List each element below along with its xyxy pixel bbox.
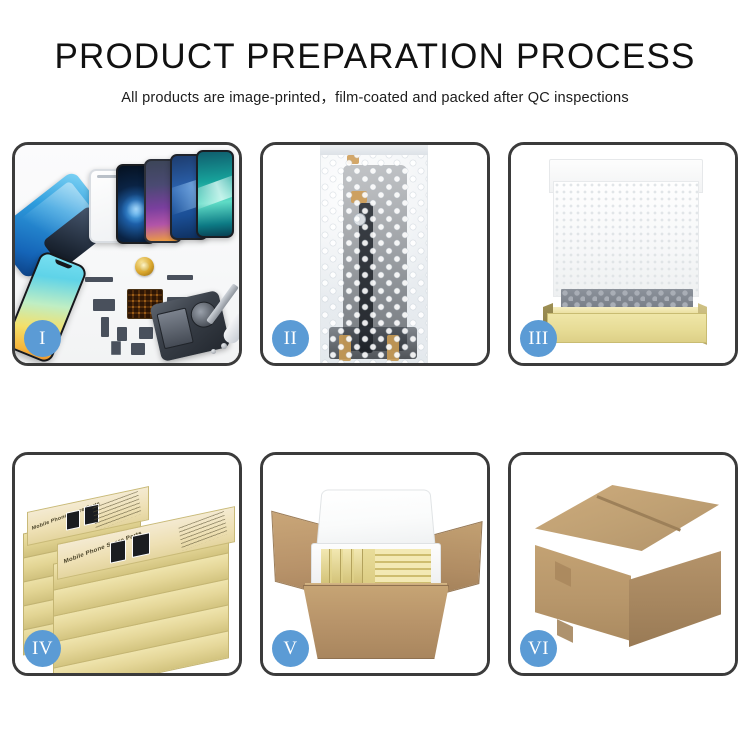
screw-icon [221, 343, 227, 349]
spec-text-lines [178, 511, 227, 551]
step-badge-5: V [272, 630, 309, 667]
process-step-panel-1: I [12, 142, 242, 366]
step-badge-4: IV [24, 630, 61, 667]
step-badge-6: VI [520, 630, 557, 667]
bubble-wrap-bag [320, 151, 428, 363]
page-title: PRODUCT PREPARATION PROCESS [0, 36, 750, 78]
process-step-panel-5: V [260, 452, 490, 676]
sim-tray-icon [111, 341, 121, 355]
header: PRODUCT PREPARATION PROCESS All products… [0, 36, 750, 107]
step-badge-3: III [520, 320, 557, 357]
process-step-panel-6: VI [508, 452, 738, 676]
process-step-panel-2: II [260, 142, 490, 366]
step-badge-1: I [24, 320, 61, 357]
foam-texture [554, 182, 698, 296]
product-photo-swatch [132, 532, 150, 558]
component-icon [139, 327, 153, 339]
step-badge-2: II [272, 320, 309, 357]
gold-connector-icon [167, 275, 193, 280]
foam-cooler-lid [316, 490, 436, 550]
screw-icon [211, 349, 216, 354]
speaker-module-icon [131, 343, 145, 355]
process-step-panel-4: Mobile Phone Spare Parts Mobile Phone Sp… [12, 452, 242, 676]
carton-front-face [303, 585, 449, 659]
component-icon [93, 299, 115, 311]
bag-seal [320, 145, 428, 155]
product-preparation-infographic: PRODUCT PREPARATION PROCESS All products… [0, 0, 750, 750]
product-photo-swatch [66, 510, 80, 531]
process-step-grid: I II [12, 142, 738, 676]
camera-lens-icon [135, 257, 154, 276]
flex-cable-icon [85, 277, 113, 282]
process-step-panel-3: III [508, 142, 738, 366]
product-photo-swatch [110, 539, 126, 563]
phone-teal-screen-icon [196, 150, 234, 238]
white-foam-sheet [553, 181, 699, 297]
page-subtitle: All products are image-printed，film-coat… [0, 86, 750, 107]
bubble-texture [321, 151, 427, 363]
component-icon [117, 327, 127, 341]
yellow-box-front [547, 313, 707, 343]
component-icon [101, 317, 109, 337]
